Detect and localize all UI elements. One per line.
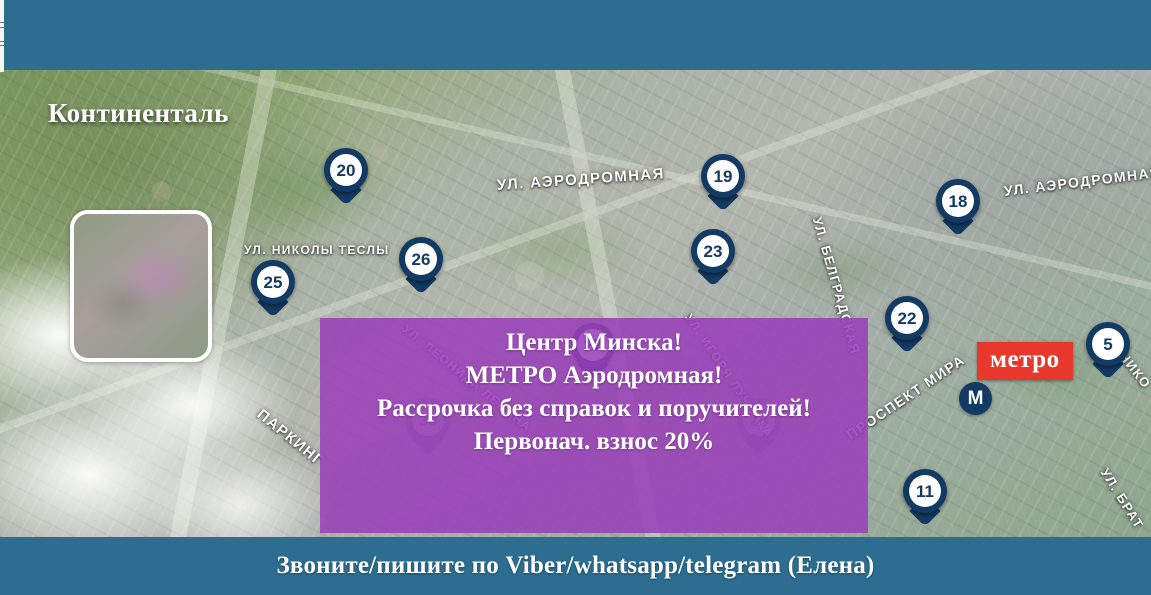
map-pin-22[interactable]: 22 — [885, 296, 929, 354]
sliver-tick — [0, 45, 4, 46]
top-banner-bar — [0, 0, 1151, 70]
pin-disc: 22 — [891, 302, 923, 334]
pin-number: 20 — [337, 162, 356, 179]
pin-disc: 18 — [942, 185, 974, 217]
map-pin-25[interactable]: 25 — [251, 260, 295, 318]
pin-number: 22 — [898, 310, 917, 327]
pin-disc: 20 — [330, 154, 362, 186]
pin-disc: 23 — [697, 235, 729, 267]
pin-disc: 25 — [257, 266, 289, 298]
pin-number: 26 — [412, 251, 431, 268]
footer-contact-text: Звоните/пишите по Viber/whatsapp/telegra… — [277, 552, 875, 580]
pin-number: 11 — [916, 483, 934, 500]
map-pin-26[interactable]: 26 — [399, 237, 443, 295]
metro-sign[interactable]: метро — [977, 342, 1073, 380]
promo-line: Первонач. взнос 20% — [320, 425, 868, 458]
map-pin-5[interactable]: 5 — [1086, 322, 1130, 380]
pin-number: 5 — [1103, 336, 1112, 353]
pin-disc: 26 — [405, 243, 437, 275]
sliver-tick — [0, 27, 4, 28]
pin-disc: 19 — [707, 160, 739, 192]
pin-number: 19 — [714, 168, 733, 185]
complex-title: Континенталь — [48, 98, 229, 129]
map-pin-11[interactable]: 11 — [903, 469, 947, 527]
pin-number: 25 — [264, 274, 283, 291]
map-pin-18[interactable]: 18 — [936, 179, 980, 237]
pin-number: 18 — [949, 193, 968, 210]
sliver-tick — [0, 22, 4, 23]
sliver-tick — [0, 41, 4, 42]
metro-station-icon[interactable]: М — [959, 382, 992, 415]
pin-number: 23 — [704, 243, 723, 260]
promo-line: Рассрочка без справок и поручителей! — [320, 392, 868, 425]
pin-disc: 5 — [1092, 328, 1124, 360]
pin-disc: 11 — [909, 475, 941, 507]
footer-contact-bar: Звоните/пишите по Viber/whatsapp/telegra… — [0, 537, 1151, 595]
advertisement-slide: Континенталь УЛ. НИКОЛЫ ТЕСЛЫУЛ. АЭРОДРО… — [0, 0, 1151, 595]
metro-icon-letter: М — [968, 389, 984, 408]
complex-highlight-frame — [70, 210, 212, 362]
promo-banner: Центр Минска!МЕТРО Аэродромная!Рассрочка… — [320, 318, 868, 533]
highlight-frame-fill — [74, 214, 208, 358]
promo-line: Центр Минска! — [320, 326, 868, 359]
left-edge-sliver — [0, 0, 4, 72]
promo-line: МЕТРО Аэродромная! — [320, 359, 868, 392]
map-pin-19[interactable]: 19 — [701, 154, 745, 212]
map-pin-23[interactable]: 23 — [691, 229, 735, 287]
map-pin-20[interactable]: 20 — [324, 148, 368, 206]
